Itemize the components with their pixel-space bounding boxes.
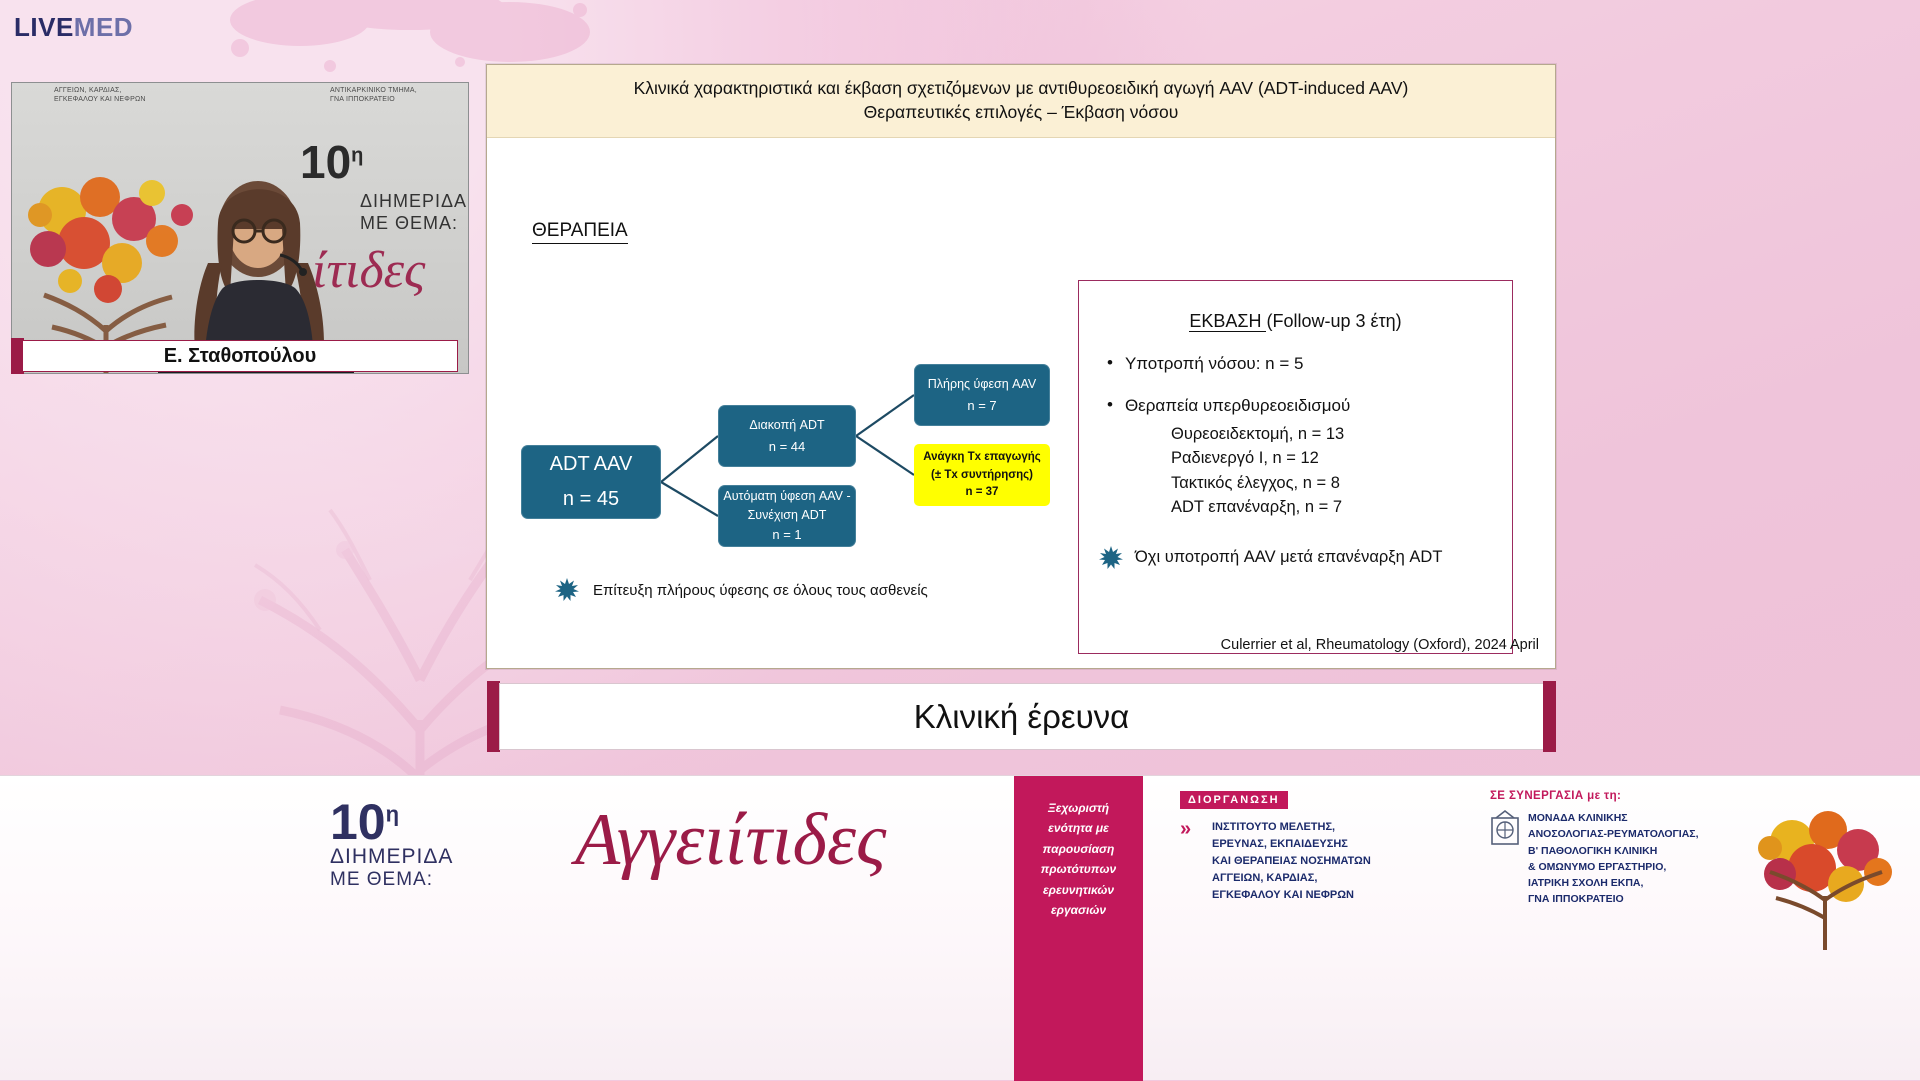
slide-title-line2: Θεραπευτικές επιλογές – Έκβαση νόσου <box>864 101 1179 125</box>
footer-organizer-block: ΔΙΟΡΓΑΝΩΣΗ » ΙΝΣΤΙΤΟΥΤΟ ΜΕΛΕΤΗΣ,ΕΡΕΥΝΑΣ,… <box>1180 790 1410 904</box>
slide-title-line1: Κλινικά χαρακτηριστικά και έκβαση σχετιζ… <box>634 77 1409 101</box>
caption-bar: Κλινική έρευνα <box>499 683 1544 750</box>
flow-node-complete-remission[interactable]: Πλήρης ύφεση AAV n = 7 <box>914 364 1050 426</box>
flow-node-induction-therapy-line1: Ανάγκη Tx επαγωγής <box>923 450 1041 465</box>
flow-node-spontaneous-remission[interactable]: Αυτόματη ύφεση AAV - Συνέχιση ADT n = 1 <box>718 485 856 547</box>
outcome-bullet-hyperthyroid-therapy-text: Θεραπεία υπερθυρεοειδισμού <box>1125 396 1350 416</box>
caption-accent-right <box>1543 681 1556 752</box>
outcome-star-item: Όχι υποτροπή AAV μετά επανέναρξη ADT <box>1079 546 1512 570</box>
livemed-logo: LIVEMED <box>14 12 133 43</box>
logo-live: LIVE <box>14 12 74 42</box>
outcome-star-item-text: Όχι υποτροπή AAV μετά επανέναρξη ADT <box>1135 548 1442 567</box>
flow-node-complete-remission-line1: Πλήρης ύφεση AAV <box>928 376 1037 393</box>
star-burst-icon <box>1099 546 1123 570</box>
video-header-left: ΑΓΓΕΙΩΝ, ΚΑΡΔΙΑΣ,ΕΓΚΕΦΑΛΟΥ ΚΑΙ ΝΕΦΡΩΝ <box>54 87 146 105</box>
flow-node-discontinue-adt-count: n = 44 <box>769 438 806 456</box>
footer-organizer-header: ΔΙΟΡΓΑΝΩΣΗ <box>1180 791 1288 809</box>
speaker-name-label: Ε. Σταθοπούλου <box>22 340 458 372</box>
presentation-slide[interactable]: Κλινικά χαρακτηριστικά και έκβαση σχετιζ… <box>486 64 1556 669</box>
footer-columns: 10η ΔΙΗΜΕΡΙΔΑ ΜΕ ΘΕΜΑ: Αγγειίτιδες Ξεχωρ… <box>0 776 1920 1080</box>
flow-node-discontinue-adt[interactable]: Διακοπή ADT n = 44 <box>718 405 856 467</box>
outcome-bullet-relapse: • Υποτροπή νόσου: n = 5 <box>1079 354 1512 374</box>
footer-conference-line1: ΔΙΗΜΕΡΙΔΑ <box>330 845 453 869</box>
bullet-dot-icon: • <box>1107 354 1113 374</box>
video-header-right: ΑΝΤΙΚΑΡΚΙΝΙΚΟ ΤΜΗΜΑ,ΓΝΑ ΙΠΠΟΚΡΑΤΕΙΟ <box>330 87 417 105</box>
slide-title-banner: Κλινικά χαρακτηριστικά και έκβαση σχετιζ… <box>487 65 1555 138</box>
footer-highlight-box: Ξεχωριστήενότητα μεπαρουσίασηπρωτότυπωνε… <box>1014 776 1143 1081</box>
outcome-panel: ΕΚΒΑΣΗ (Follow-up 3 έτη) • Υποτροπή νόσο… <box>1078 280 1513 654</box>
outcome-sub-item: ADT επανέναρξη, n = 7 <box>1171 495 1512 519</box>
flow-node-spontaneous-remission-line1: Αυτόματη ύφεση AAV - <box>723 488 850 505</box>
footer-banner: 10η ΔΙΗΜΕΡΙΔΑ ΜΕ ΘΕΜΑ: Αγγειίτιδες Ξεχωρ… <box>0 775 1920 1080</box>
bullet-dot-icon: • <box>1107 396 1113 416</box>
flow-node-induction-therapy-count: n = 37 <box>966 485 999 500</box>
flow-node-adt-aav[interactable]: ADT AAV n = 45 <box>521 445 661 519</box>
flow-node-induction-therapy[interactable]: Ανάγκη Tx επαγωγής (± Tx συντήρησης) n =… <box>914 444 1050 506</box>
flow-node-spontaneous-remission-count: n = 1 <box>772 526 801 544</box>
flow-node-induction-therapy-line2: (± Tx συντήρησης) <box>931 468 1033 483</box>
flowchart-star-note: Επίτευξη πλήρους ύφεσης σε όλους τους ασ… <box>555 578 928 602</box>
outcome-sub-item: Τακτικός έλεγχος, n = 8 <box>1171 471 1512 495</box>
footer-cooperation-body: ΜΟΝΑΔΑ ΚΛΙΝΙΚΗΣΑΝΟΣΟΛΟΓΙΑΣ-ΡΕΥΜΑΤΟΛΟΓΙΑΣ… <box>1490 810 1720 908</box>
logo-med: MED <box>74 12 133 42</box>
footer-cooperation-header: ΣΕ ΣΥΝΕΡΓΑΣΙΑ με τη: <box>1490 790 1720 802</box>
flow-node-spontaneous-remission-line2: Συνέχιση ADT <box>748 507 827 524</box>
outcome-bullet-hyperthyroid-therapy: • Θεραπεία υπερθυρεοειδισμού <box>1079 396 1512 416</box>
video-conference-line2: ΜΕ ΘΕΜΑ: <box>360 213 458 234</box>
outcome-panel-title-rest: (Follow-up 3 έτη) <box>1266 311 1401 331</box>
flow-node-adt-aav-count: n = 45 <box>563 486 619 513</box>
outcome-panel-title: ΕΚΒΑΣΗ (Follow-up 3 έτη) <box>1079 311 1512 332</box>
outcome-sub-item: Θυρεοειδεκτομή, n = 13 <box>1171 422 1512 446</box>
outcome-bullet-relapse-text: Υποτροπή νόσου: n = 5 <box>1125 354 1303 374</box>
footer-organizer-body: ΙΝΣΤΙΤΟΥΤΟ ΜΕΛΕΤΗΣ,ΕΡΕΥΝΑΣ, ΕΚΠΑΙΔΕΥΣΗΣΚ… <box>1180 819 1410 904</box>
outcome-panel-title-underlined: ΕΚΒΑΣΗ <box>1189 311 1266 332</box>
slide-citation: Culerrier et al, Rheumatology (Oxford), … <box>1221 637 1539 653</box>
footer-autumn-tree-logo <box>1740 800 1910 950</box>
star-burst-icon <box>555 578 579 602</box>
footer-cooperation-block: ΣΕ ΣΥΝΕΡΓΑΣΙΑ με τη: ΜΟΝΑΔΑ ΚΛΙΝΙΚΗΣΑΝΟΣ… <box>1490 790 1720 908</box>
outcome-sub-item: Ραδιενεργό I, n = 12 <box>1171 446 1512 470</box>
flow-node-adt-aav-line1: ADT AAV <box>550 451 633 478</box>
flowchart-star-note-text: Επίτευξη πλήρους ύφεσης σε όλους τους ασ… <box>593 582 928 599</box>
speaker-video-panel[interactable]: ΑΓΓΕΙΩΝ, ΚΑΡΔΙΑΣ,ΕΓΚΕΦΑΛΟΥ ΚΑΙ ΝΕΦΡΩΝ ΑΝ… <box>11 82 469 374</box>
video-conference-line1: ΔΙΗΜΕΡΙΔΑ <box>360 191 467 212</box>
slide-body: ΘΕΡΑΠΕΙΑ ADT AAV n = 45 Διακοπή ADT n = … <box>487 138 1555 669</box>
footer-ordinal: 10η <box>330 800 453 845</box>
footer-conference-ordinal-block: 10η ΔΙΗΜΕΡΙΔΑ ΜΕ ΘΕΜΑ: <box>330 800 453 891</box>
footer-conference-line2: ΜΕ ΘΕΜΑ: <box>330 869 453 891</box>
footer-conference-title: Αγγειίτιδες <box>575 798 886 883</box>
double-chevron-icon: » <box>1180 818 1191 841</box>
outcome-sub-list: Θυρεοειδεκτομή, n = 13 Ραδιενεργό I, n =… <box>1079 422 1512 520</box>
university-seal-icon <box>1490 808 1520 848</box>
flow-node-discontinue-adt-line1: Διακοπή ADT <box>749 417 824 434</box>
flow-node-complete-remission-count: n = 7 <box>967 397 996 415</box>
